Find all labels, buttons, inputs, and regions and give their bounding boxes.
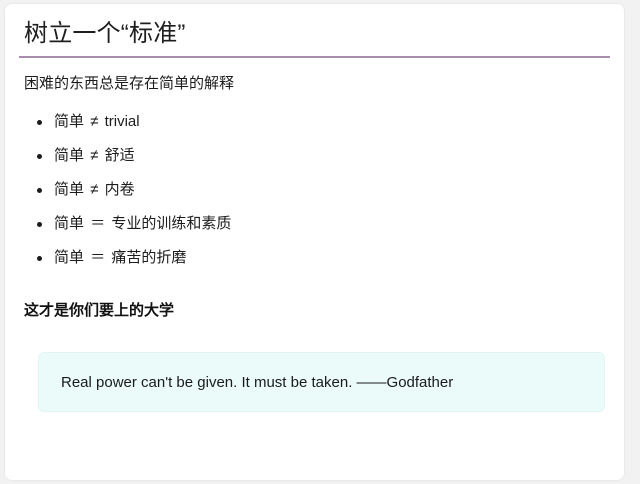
quote-callout: Real power can't be given. It must be ta… (38, 352, 605, 412)
list-item: 简单 ≠ 舒适 (24, 139, 610, 173)
bullet-list: 简单 ≠ trivial 简单 ≠ 舒适 简单 ≠ 内卷 (24, 105, 610, 275)
list-item-operator: ＝ (88, 249, 107, 266)
list-item-subject: 简单 (54, 249, 84, 266)
list-item-operator: ≠ (88, 113, 100, 130)
lead-line: 困难的东西总是存在简单的解释 (24, 73, 610, 95)
page-title: 树立一个“标准” (19, 4, 610, 56)
title-divider (19, 56, 610, 58)
list-item-predicate: 痛苦的折磨 (111, 249, 186, 266)
list-item-operator: ≠ (88, 147, 100, 164)
slide-card: 树立一个“标准” 困难的东西总是存在简单的解释 简单 ≠ trivial 简单 … (5, 4, 624, 480)
list-item-predicate: 专业的训练和素质 (111, 215, 231, 232)
list-item-subject: 简单 (54, 147, 84, 164)
bullet-dot-icon (37, 120, 42, 125)
list-item: 简单 ＝ 痛苦的折磨 (24, 241, 610, 275)
bullet-dot-icon (37, 188, 42, 193)
closing-line: 这才是你们要上的大学 (24, 300, 610, 322)
list-item: 简单 ≠ trivial (24, 105, 610, 139)
list-item-subject: 简单 (54, 181, 84, 198)
list-item-predicate: 舒适 (105, 147, 135, 164)
list-item-predicate: trivial (105, 113, 140, 130)
bullet-dot-icon (37, 154, 42, 159)
list-item-subject: 简单 (54, 215, 84, 232)
list-item: 简单 ≠ 内卷 (24, 173, 610, 207)
bullet-dot-icon (37, 222, 42, 227)
quote-text: Real power can't be given. It must be ta… (39, 374, 453, 391)
list-item: 简单 ＝ 专业的训练和素质 (24, 207, 610, 241)
list-item-predicate: 内卷 (105, 181, 135, 198)
bullet-dot-icon (37, 256, 42, 261)
list-item-operator: ＝ (88, 215, 107, 232)
body-area: 困难的东西总是存在简单的解释 简单 ≠ trivial 简单 ≠ 舒适 简单 (19, 73, 610, 322)
list-item-subject: 简单 (54, 113, 84, 130)
list-item-operator: ≠ (88, 181, 100, 198)
